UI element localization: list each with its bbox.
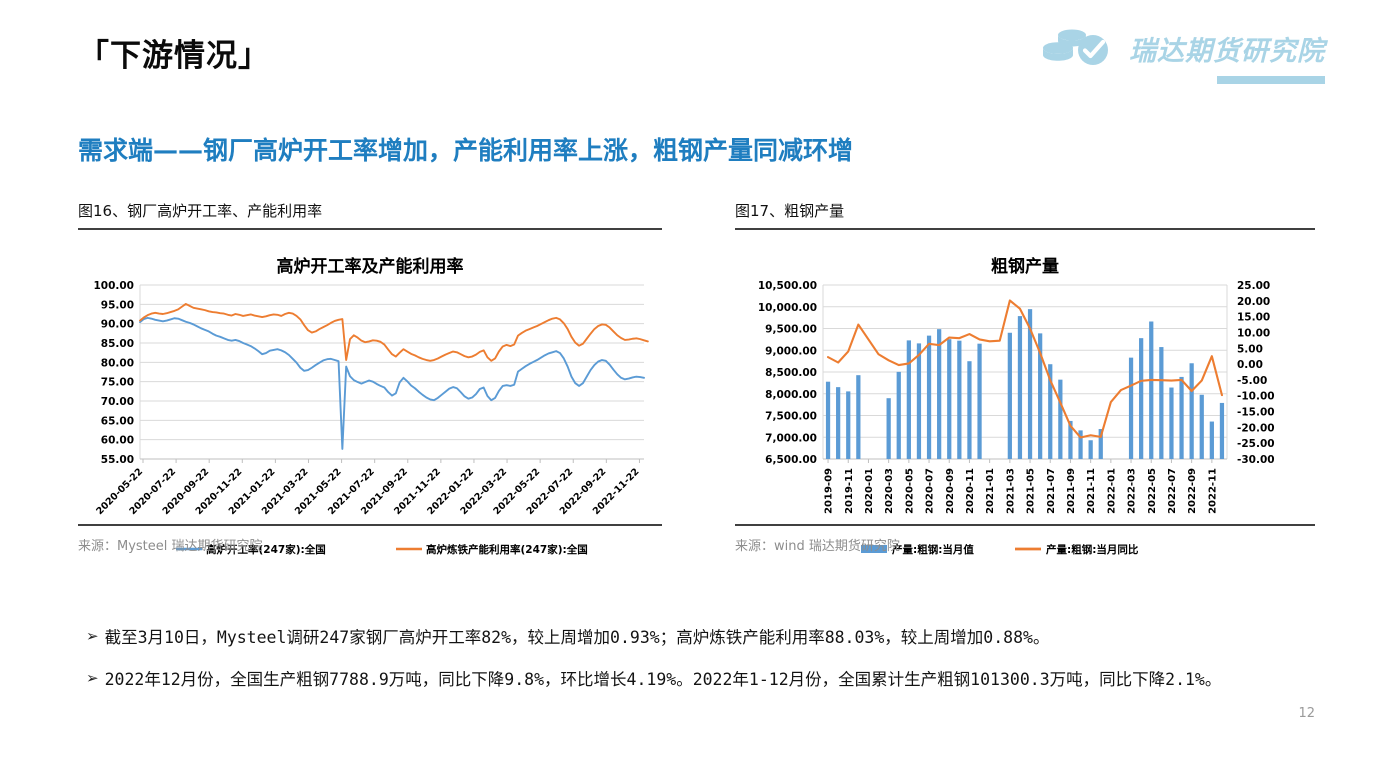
coins-check-icon (1040, 26, 1120, 70)
svg-text:95.00: 95.00 (101, 299, 134, 311)
brand-logo: 瑞达期货研究院 (1040, 26, 1325, 70)
logo-text: 瑞达期货研究院 (1129, 29, 1325, 68)
panel-figure-16: 图16、钢厂高炉开工率、产能利用率 高炉开工率及产能利用率 55.0060.00… (78, 200, 662, 560)
svg-text:2020-01: 2020-01 (864, 468, 875, 514)
svg-text:2022-03: 2022-03 (1127, 468, 1138, 514)
svg-text:65.00: 65.00 (101, 415, 134, 427)
svg-text:高炉炼铁产能利用率(247家):全国: 高炉炼铁产能利用率(247家):全国 (426, 543, 588, 556)
svg-text:产量:粗钢:当月同比: 产量:粗钢:当月同比 (1046, 543, 1139, 556)
figure-16-caption: 图16、钢厂高炉开工率、产能利用率 (78, 200, 662, 228)
svg-text:-20.00: -20.00 (1237, 422, 1275, 434)
chart-blast-furnace-rates: 高炉开工率及产能利用率 55.0060.0065.0070.0075.0080.… (78, 230, 662, 560)
chart-title-right: 粗钢产量 (735, 230, 1315, 277)
logo-underline (1217, 76, 1325, 84)
list-item: ➢ 截至3月10日，Mysteel调研247家钢厂高炉开工率82%，较上周增加0… (86, 625, 1266, 651)
svg-text:20.00: 20.00 (1237, 296, 1270, 308)
svg-text:2020-11: 2020-11 (965, 468, 976, 514)
svg-text:2022-11: 2022-11 (1207, 468, 1218, 514)
svg-text:-25.00: -25.00 (1237, 438, 1275, 450)
svg-text:2021-11: 2021-11 (1086, 468, 1097, 514)
svg-text:-10.00: -10.00 (1237, 391, 1275, 403)
slide-root: 「下游情况」 瑞达期货研究院 需求端——钢厂高炉开工率增加，产能利用率上涨，粗钢… (0, 0, 1387, 780)
svg-text:2021-09: 2021-09 (1066, 468, 1077, 514)
svg-text:2020-09: 2020-09 (945, 468, 956, 514)
svg-text:7,000.00: 7,000.00 (765, 432, 817, 444)
svg-text:75.00: 75.00 (101, 377, 134, 389)
svg-text:8,500.00: 8,500.00 (765, 367, 817, 379)
svg-text:70.00: 70.00 (101, 396, 134, 408)
chart-crude-steel-output: 粗钢产量 6,500.007,000.007,500.008,000.008,5… (735, 230, 1315, 560)
svg-text:-15.00: -15.00 (1237, 407, 1275, 419)
svg-text:2021-01: 2021-01 (985, 468, 996, 514)
svg-text:10.00: 10.00 (1237, 327, 1270, 339)
chart-title-left: 高炉开工率及产能利用率 (78, 230, 662, 277)
page-number: 12 (1298, 706, 1315, 721)
svg-text:9,000.00: 9,000.00 (765, 345, 817, 357)
svg-text:8,000.00: 8,000.00 (765, 389, 817, 401)
bullet-list: ➢ 截至3月10日，Mysteel调研247家钢厂高炉开工率82%，较上周增加0… (86, 625, 1266, 708)
svg-text:产量:粗钢:当月值: 产量:粗钢:当月值 (892, 543, 974, 556)
svg-text:7,500.00: 7,500.00 (765, 411, 817, 423)
svg-text:2021-05: 2021-05 (1026, 468, 1037, 514)
svg-text:9,500.00: 9,500.00 (765, 324, 817, 336)
svg-text:90.00: 90.00 (101, 319, 134, 331)
list-item: ➢ 2022年12月份，全国生产粗钢7788.9万吨，同比下降9.8%，环比增长… (86, 667, 1266, 693)
panel-figure-17: 图17、粗钢产量 粗钢产量 6,500.007,000.007,500.008,… (735, 200, 1315, 560)
bullet-text: 截至3月10日，Mysteel调研247家钢厂高炉开工率82%，较上周增加0.9… (105, 625, 1266, 651)
bullet-arrow-icon: ➢ (86, 667, 99, 690)
svg-text:100.00: 100.00 (93, 280, 134, 292)
svg-text:2020-07: 2020-07 (925, 468, 936, 514)
bullet-text: 2022年12月份，全国生产粗钢7788.9万吨，同比下降9.8%，环比增长4.… (105, 667, 1266, 693)
figure-17-source: 来源：wind 瑞达期货研究院 (735, 526, 900, 554)
svg-text:-30.00: -30.00 (1237, 454, 1275, 466)
svg-text:2020-03: 2020-03 (884, 468, 895, 514)
bullet-arrow-icon: ➢ (86, 625, 99, 648)
svg-text:80.00: 80.00 (101, 357, 134, 369)
svg-text:10,500.00: 10,500.00 (758, 280, 817, 292)
svg-text:2020-05: 2020-05 (904, 468, 915, 514)
svg-text:5.00: 5.00 (1237, 343, 1263, 355)
svg-text:0.00: 0.00 (1237, 359, 1263, 371)
svg-text:15.00: 15.00 (1237, 312, 1270, 324)
svg-text:2022-05: 2022-05 (1147, 468, 1158, 514)
svg-text:2019-09: 2019-09 (824, 468, 835, 514)
figure-16-source: 来源：Mysteel 瑞达期货研究院 (78, 526, 263, 554)
svg-text:10,000.00: 10,000.00 (758, 302, 817, 314)
section-headline: 需求端——钢厂高炉开工率增加，产能利用率上涨，粗钢产量同减环增 (78, 131, 853, 167)
svg-text:55.00: 55.00 (101, 454, 134, 466)
svg-text:2022-07: 2022-07 (1167, 468, 1178, 514)
svg-text:2019-11: 2019-11 (844, 468, 855, 514)
figure-17-caption: 图17、粗钢产量 (735, 200, 1315, 228)
svg-text:6,500.00: 6,500.00 (765, 454, 817, 466)
svg-text:85.00: 85.00 (101, 338, 134, 350)
svg-text:2022-01: 2022-01 (1106, 468, 1117, 514)
page-title: 「下游情况」 (78, 30, 270, 75)
svg-text:-5.00: -5.00 (1237, 375, 1267, 387)
svg-text:60.00: 60.00 (101, 435, 134, 447)
svg-text:2021-03: 2021-03 (1005, 468, 1016, 514)
svg-text:2021-07: 2021-07 (1046, 468, 1057, 514)
svg-text:2022-09: 2022-09 (1187, 468, 1198, 514)
svg-text:25.00: 25.00 (1237, 280, 1270, 292)
